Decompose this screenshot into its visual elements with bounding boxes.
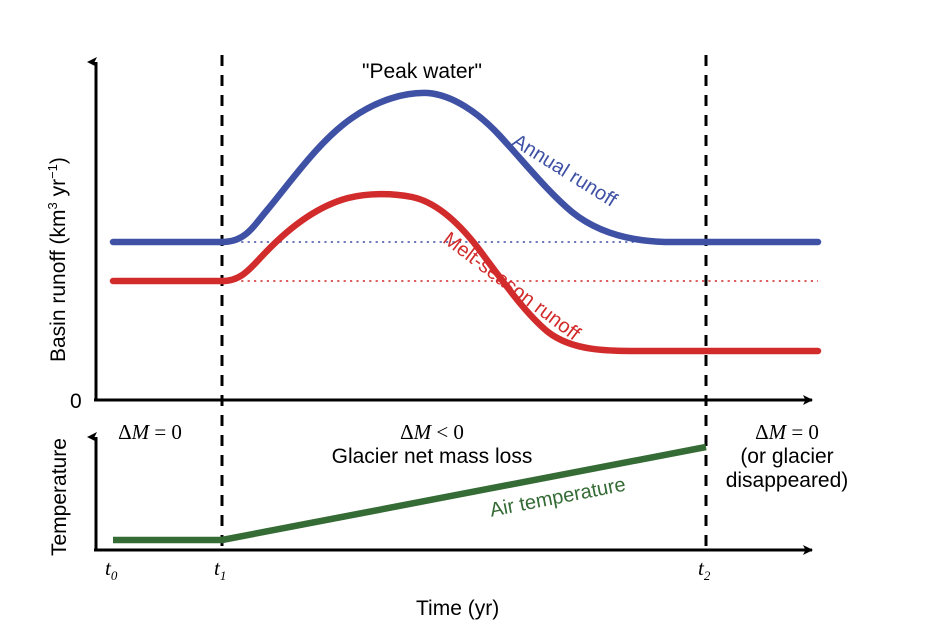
annotation-right-var: M xyxy=(769,420,787,444)
annotation-middle-var: M xyxy=(414,420,432,444)
annotation-middle-delta: Δ xyxy=(400,420,414,444)
upper-y-axis-title-sup1: 3 xyxy=(45,202,60,209)
x-tick-label-t1: t1 xyxy=(214,556,226,584)
melt-season-runoff-curve xyxy=(113,194,818,351)
annotation-left-delta: Δ xyxy=(118,420,132,444)
x-axis-title: Time (yr) xyxy=(416,597,499,621)
reference-lines xyxy=(222,242,818,281)
annual-runoff-curve xyxy=(113,93,818,242)
annotation-left-var: M xyxy=(132,420,150,444)
upper-y-axis-title-end: ) xyxy=(47,157,70,164)
annotation-middle: ΔM < 0 Glacier net mass loss xyxy=(312,420,552,469)
lower-y-axis-title: Temperature xyxy=(48,438,72,556)
upper-y-zero-tick-label: 0 xyxy=(70,390,82,414)
x-tick-t2-subscript: 2 xyxy=(704,568,711,583)
figure-container: Basin runoff (km3 yr−1) 0 "Peak water" A… xyxy=(0,0,926,634)
annotation-right-line1: ΔM = 0 xyxy=(697,420,877,445)
annotation-middle-line2: Glacier net mass loss xyxy=(312,445,552,469)
figure-canvas xyxy=(0,0,926,634)
x-tick-t0-subscript: 0 xyxy=(111,568,118,583)
x-tick-label-t2: t2 xyxy=(698,556,710,584)
annotation-left-rel: = 0 xyxy=(149,420,182,444)
upper-y-axis-title-main: Basin runoff (km xyxy=(47,209,70,362)
peak-water-annotation: "Peak water" xyxy=(362,60,482,84)
x-tick-t1-subscript: 1 xyxy=(220,568,227,583)
annotation-left: ΔM = 0 xyxy=(100,420,200,445)
annotation-right-line3: disappeared) xyxy=(697,469,877,493)
annotation-middle-rel: < 0 xyxy=(431,420,464,444)
upper-y-axis-title-mid: yr xyxy=(47,179,70,202)
x-tick-label-t0: t0 xyxy=(105,556,117,584)
annotation-right-line2: (or glacier xyxy=(697,445,877,469)
annotation-right-delta: Δ xyxy=(755,420,769,444)
annotation-right-rel: = 0 xyxy=(786,420,819,444)
annotation-right: ΔM = 0 (or glacier disappeared) xyxy=(697,420,877,493)
upper-panel-curves xyxy=(113,93,818,351)
upper-y-axis-title: Basin runoff (km3 yr−1) xyxy=(46,157,71,362)
upper-y-axis-title-sup2: −1 xyxy=(45,164,60,179)
annotation-middle-line1: ΔM < 0 xyxy=(312,420,552,445)
time-markers xyxy=(222,55,706,550)
